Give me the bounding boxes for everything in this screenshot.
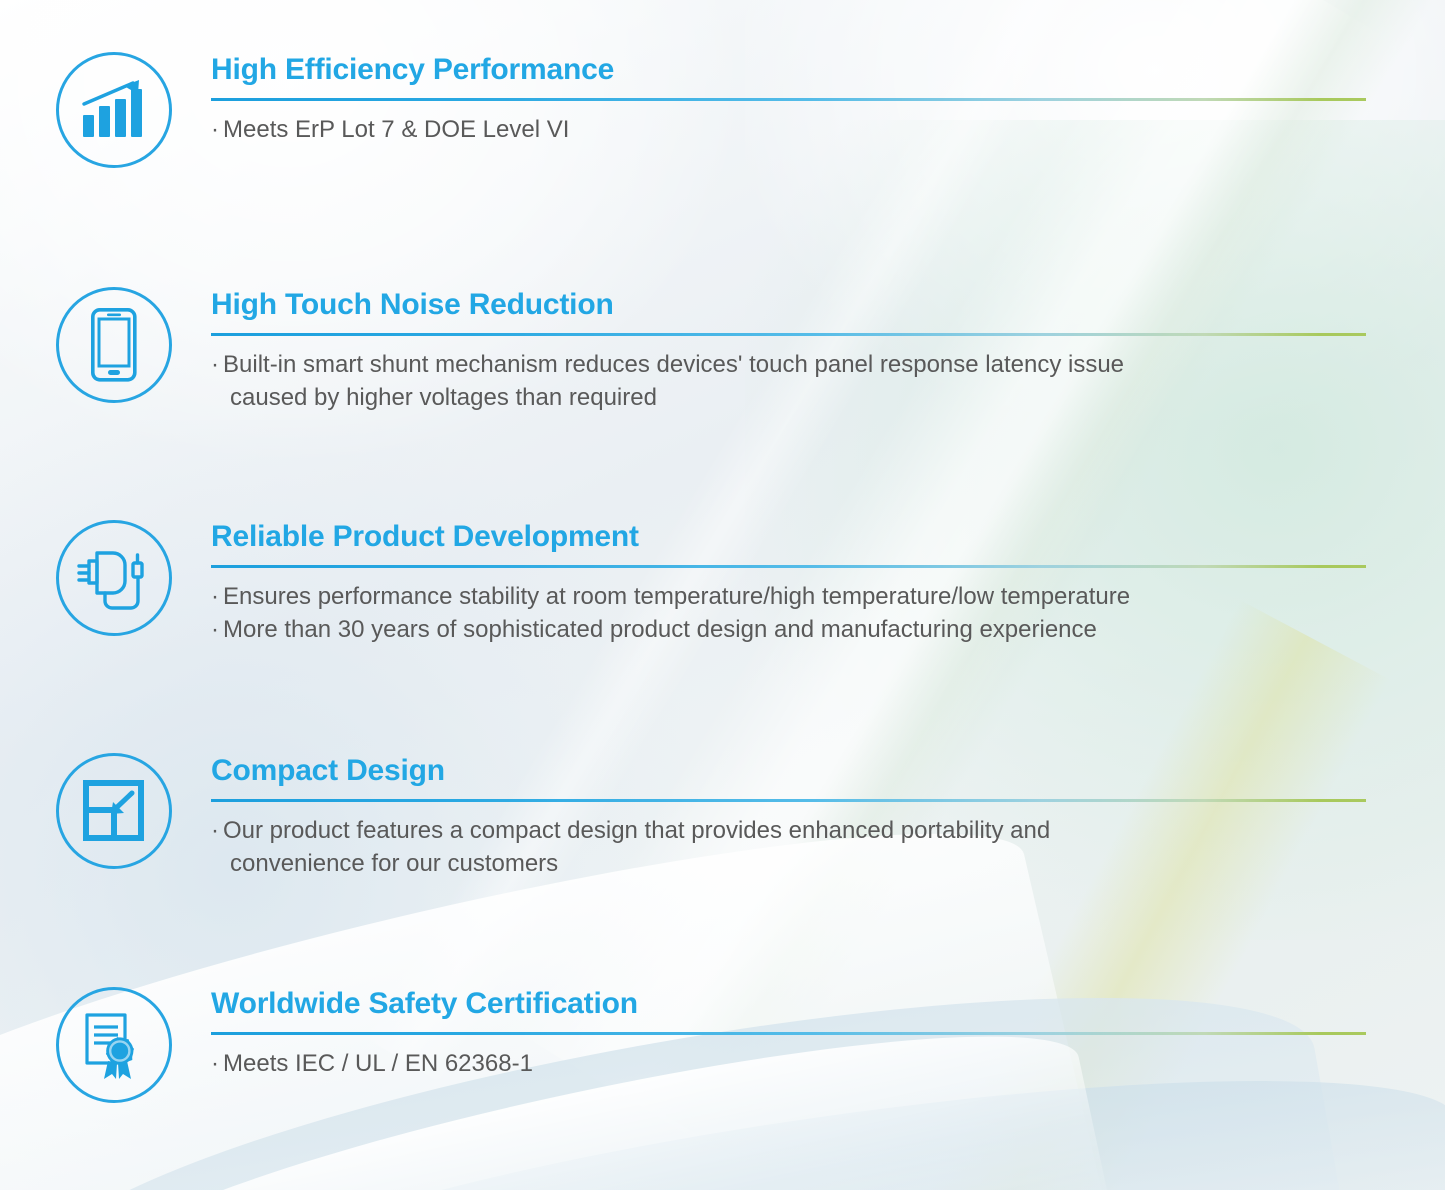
feature-description: ·Meets ErP Lot 7 & DOE Level VI bbox=[211, 113, 1366, 146]
feature-line-text: Meets ErP Lot 7 & DOE Level VI bbox=[223, 116, 569, 143]
feature-title: Reliable Product Development bbox=[211, 522, 1366, 552]
feature-divider bbox=[211, 1032, 1366, 1035]
bullet-marker: · bbox=[211, 817, 219, 844]
feature-body: Reliable Product Development ·Ensures pe… bbox=[211, 522, 1366, 646]
feature-line: ·Our product features a compact design t… bbox=[211, 814, 1366, 847]
feature-body: High Touch Noise Reduction ·Built-in sma… bbox=[211, 290, 1366, 414]
feature-title: Worldwide Safety Certification bbox=[211, 989, 1366, 1019]
feature-line: ·Meets IEC / UL / EN 62368-1 bbox=[211, 1047, 1366, 1080]
feature-description: ·Meets IEC / UL / EN 62368-1 bbox=[211, 1047, 1366, 1080]
feature-line-text: Ensures performance stability at room te… bbox=[223, 583, 1130, 610]
feature-line: caused by higher voltages than required bbox=[211, 381, 1366, 414]
power-adapter-icon bbox=[56, 520, 172, 636]
feature-line-text: caused by higher voltages than required bbox=[230, 384, 657, 411]
feature-line-text: Built-in smart shunt mechanism reduces d… bbox=[223, 351, 1124, 378]
bullet-marker: · bbox=[211, 351, 219, 378]
feature-description: ·Built-in smart shunt mechanism reduces … bbox=[211, 348, 1366, 414]
feature-body: High Efficiency Performance ·Meets ErP L… bbox=[211, 55, 1366, 146]
feature-line: ·Ensures performance stability at room t… bbox=[211, 580, 1366, 613]
feature-line-text: More than 30 years of sophisticated prod… bbox=[223, 616, 1097, 643]
compact-resize-icon bbox=[56, 753, 172, 869]
feature-description: ·Ensures performance stability at room t… bbox=[211, 580, 1366, 646]
feature-line-text: Meets IEC / UL / EN 62368-1 bbox=[223, 1050, 533, 1077]
certificate-seal-icon bbox=[56, 987, 172, 1103]
feature-line: ·More than 30 years of sophisticated pro… bbox=[211, 613, 1366, 646]
feature-title: High Efficiency Performance bbox=[211, 55, 1366, 85]
feature-divider bbox=[211, 799, 1366, 802]
bullet-marker: · bbox=[211, 116, 219, 143]
feature-list: High Efficiency Performance ·Meets ErP L… bbox=[0, 0, 1445, 1190]
feature-title: Compact Design bbox=[211, 756, 1366, 786]
feature-line-text: convenience for our customers bbox=[230, 850, 558, 877]
feature-line: ·Built-in smart shunt mechanism reduces … bbox=[211, 348, 1366, 381]
bar-chart-growth-icon bbox=[56, 52, 172, 168]
feature-divider bbox=[211, 565, 1366, 568]
feature-title: High Touch Noise Reduction bbox=[211, 290, 1366, 320]
feature-line: ·Meets ErP Lot 7 & DOE Level VI bbox=[211, 113, 1366, 146]
bullet-marker: · bbox=[211, 583, 219, 610]
feature-description: ·Our product features a compact design t… bbox=[211, 814, 1366, 880]
smartphone-icon bbox=[56, 287, 172, 403]
bullet-marker: · bbox=[211, 1050, 219, 1077]
feature-line: convenience for our customers bbox=[211, 847, 1366, 880]
feature-body: Worldwide Safety Certification ·Meets IE… bbox=[211, 989, 1366, 1080]
bullet-marker: · bbox=[211, 616, 219, 643]
feature-highlights-page: High Efficiency Performance ·Meets ErP L… bbox=[0, 0, 1445, 1190]
feature-divider bbox=[211, 98, 1366, 101]
feature-divider bbox=[211, 333, 1366, 336]
feature-line-text: Our product features a compact design th… bbox=[223, 817, 1050, 844]
feature-body: Compact Design ·Our product features a c… bbox=[211, 756, 1366, 880]
